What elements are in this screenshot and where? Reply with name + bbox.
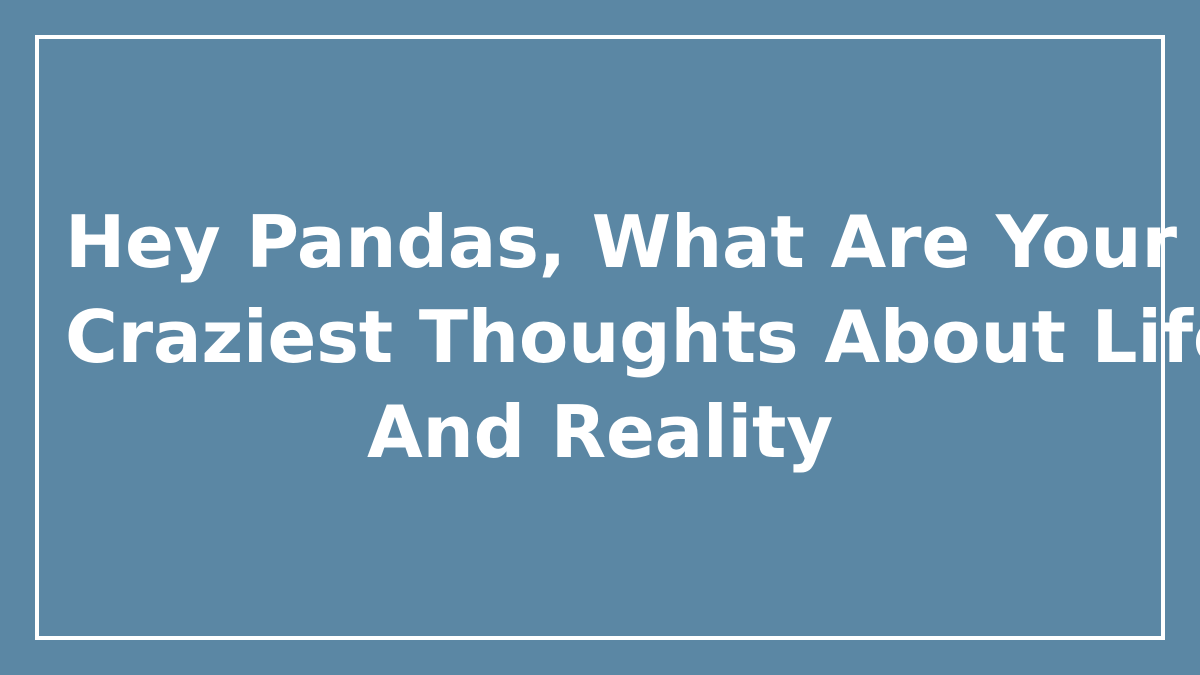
page-title: Hey Pandas, What Are Your Craziest Thoug…	[65, 195, 1135, 480]
title-line-3: And Reality	[65, 385, 1135, 480]
title-line-1: Hey Pandas, What Are Your	[65, 195, 1135, 290]
title-line-2: Craziest Thoughts About Life	[65, 290, 1135, 385]
title-block: Hey Pandas, What Are Your Craziest Thoug…	[35, 35, 1165, 640]
title-card: Hey Pandas, What Are Your Craziest Thoug…	[0, 0, 1200, 675]
